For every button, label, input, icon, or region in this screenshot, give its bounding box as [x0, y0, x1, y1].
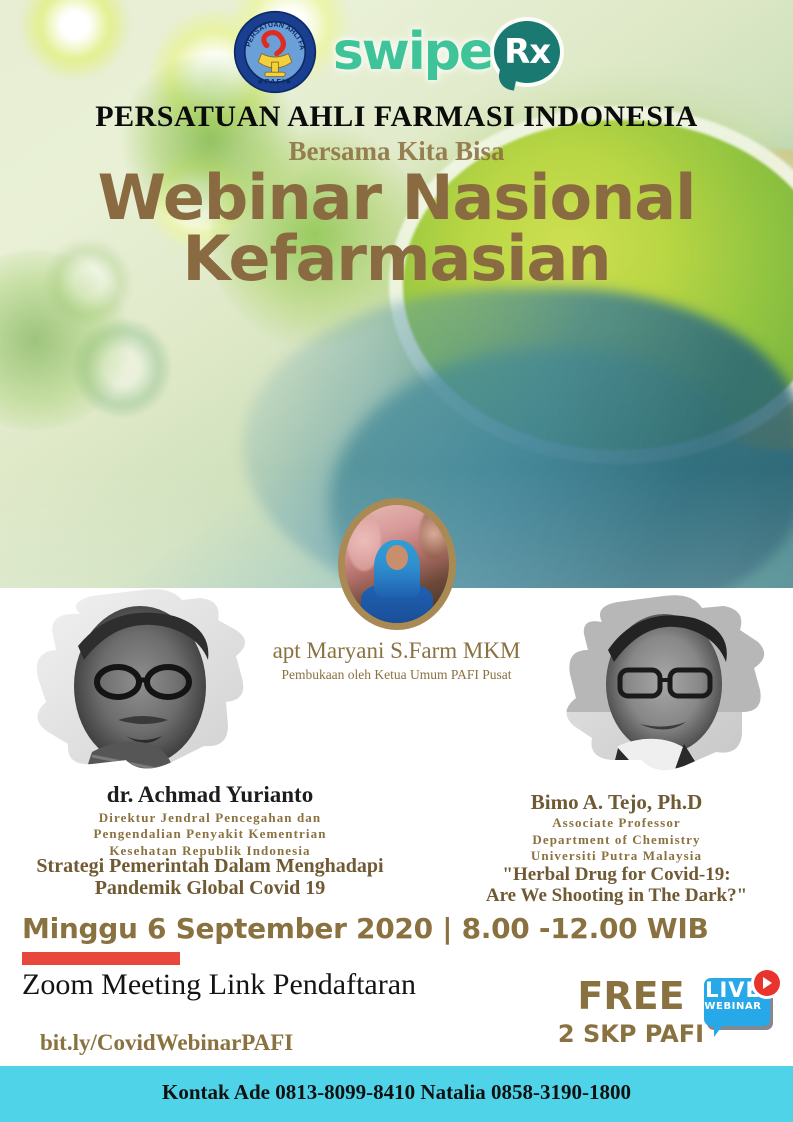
speaker-left-affiliation: Direktur Jendral Pencegahan dan Pengenda… — [0, 810, 420, 859]
play-icon — [754, 970, 780, 996]
topic-line: Are We Shooting in The Dark?" — [440, 885, 793, 906]
svg-text:★PAFI★: ★PAFI★ — [256, 77, 293, 86]
live-webinar-badge: LIVE WEBINAR — [700, 972, 778, 1038]
skp-credits: 2 SKP PAFI — [556, 1020, 706, 1048]
pafi-logo-icon: PERSATUAN AHLI FARMASI INDONESIA ★PAFI★ — [233, 10, 317, 94]
webinar-label: WEBINAR — [700, 1001, 766, 1012]
main-title-line1: Webinar Nasional — [0, 168, 793, 229]
rx-label: Rx — [504, 32, 550, 72]
platform-label: Zoom Meeting Link Pendaftaran — [22, 968, 416, 1002]
swipe-wordmark: swipe — [333, 22, 492, 82]
photo-face — [386, 545, 408, 570]
center-speaker: apt Maryani S.Farm MKM Pembukaan oleh Ke… — [0, 498, 793, 683]
center-speaker-name: apt Maryani S.Farm MKM — [0, 638, 793, 664]
topic-line: Strategi Pemerintah Dalam Menghadapi — [0, 855, 420, 877]
topic-line: "Herbal Drug for Covid-19: — [440, 864, 793, 885]
affiliation-line: Associate Professor — [440, 815, 793, 832]
registration-link[interactable]: bit.ly/CovidWebinarPAFI — [40, 1030, 293, 1056]
contact-text: Kontak Ade 0813-8099-8410 Natalia 0858-3… — [0, 1080, 793, 1105]
center-speaker-photo — [338, 498, 456, 630]
affiliation-line: Pengendalian Penyakit Kementrian — [0, 826, 420, 842]
speaker-right-topic: "Herbal Drug for Covid-19: Are We Shooti… — [440, 864, 793, 907]
contact-footer: Kontak Ade 0813-8099-8410 Natalia 0858-3… — [0, 1066, 793, 1122]
main-title-line2: Kefarmasian — [0, 229, 793, 290]
speaker-right-name: Bimo A. Tejo, Ph.D — [440, 790, 793, 815]
photo-background-blossom — [419, 509, 449, 559]
topic-line: Pandemik Global Covid 19 — [0, 877, 420, 899]
affiliation-line: Direktur Jendral Pencegahan dan — [0, 810, 420, 826]
center-speaker-role: Pembukaan oleh Ketua Umum PAFI Pusat — [0, 667, 793, 683]
webinar-poster: PERSATUAN AHLI FARMASI INDONESIA ★PAFI★ … — [0, 0, 793, 1122]
rx-bubble-icon: Rx — [494, 21, 560, 83]
event-datetime: Minggu 6 September 2020 | 8.00 -12.00 WI… — [22, 912, 709, 945]
red-accent-bar — [22, 952, 180, 965]
free-badge: FREE — [556, 974, 706, 1018]
organization-name: PERSATUAN AHLI FARMASI INDONESIA — [0, 100, 793, 134]
swiperx-logo: swipe Rx — [333, 21, 560, 83]
affiliation-line: Universiti Putra Malaysia — [440, 848, 793, 865]
logo-row: PERSATUAN AHLI FARMASI INDONESIA ★PAFI★ … — [0, 8, 793, 96]
main-title: Webinar Nasional Kefarmasian — [0, 168, 793, 290]
affiliation-line: Department of Chemistry — [440, 832, 793, 849]
speaker-right-affiliation: Associate Professor Department of Chemis… — [440, 815, 793, 865]
speaker-left-topic: Strategi Pemerintah Dalam Menghadapi Pan… — [0, 855, 420, 900]
speaker-left-name: dr. Achmad Yurianto — [0, 782, 420, 808]
